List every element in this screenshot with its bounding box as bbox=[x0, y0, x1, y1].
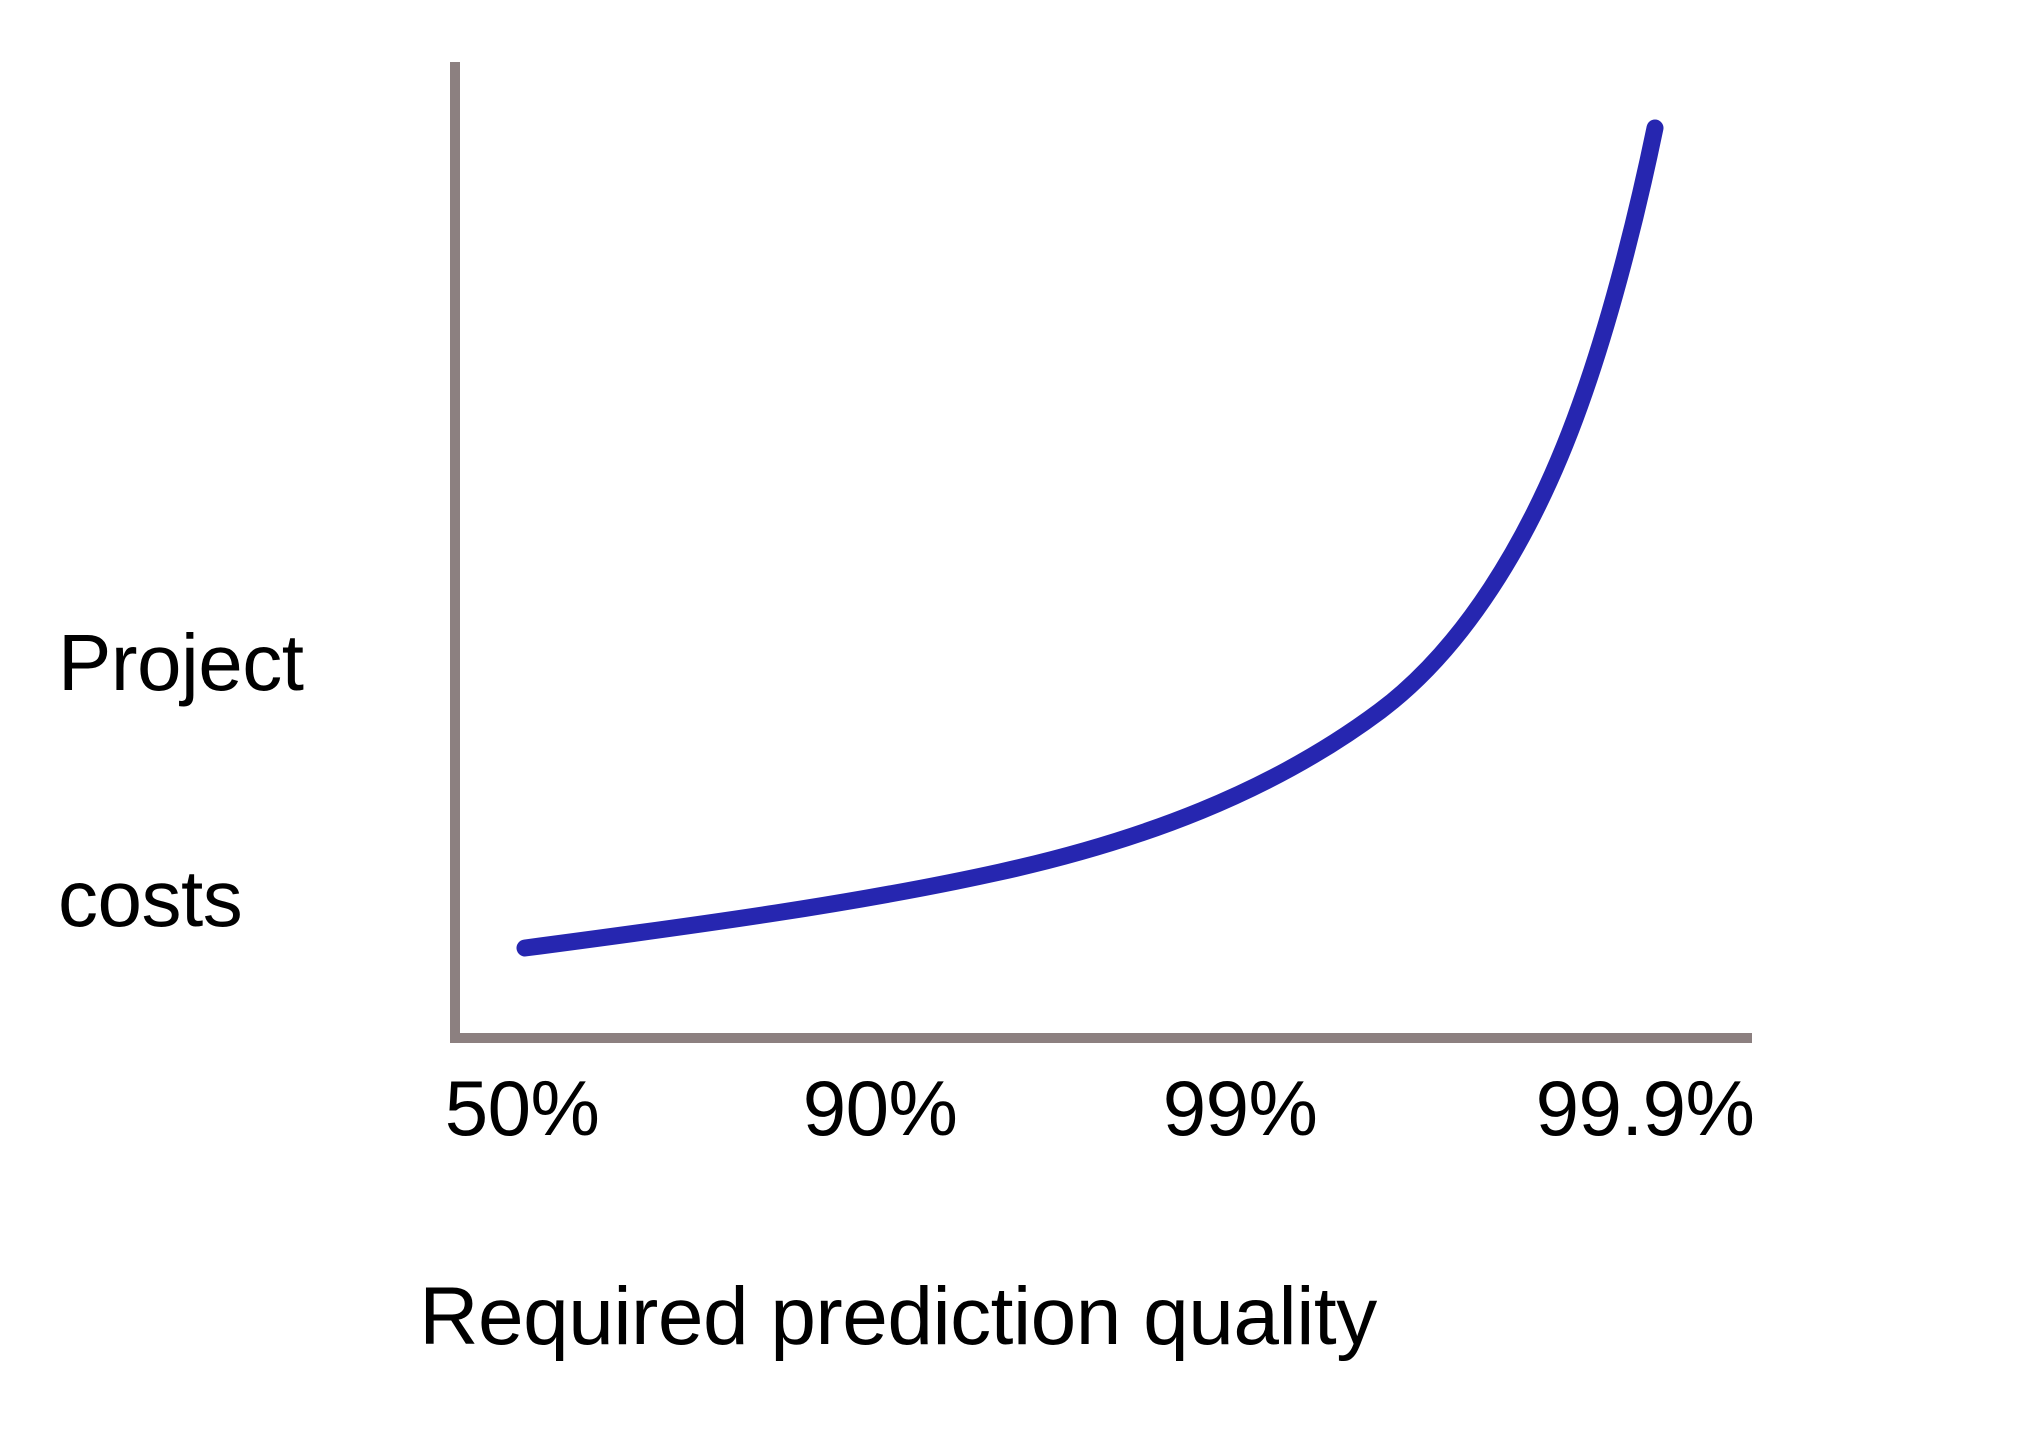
x-axis-title-text: Required prediction quality bbox=[419, 1268, 1376, 1366]
y-axis-label: Project costs bbox=[58, 486, 418, 1076]
y-axis-label-line-2: costs bbox=[58, 840, 418, 958]
x-tick-label-50: 50% bbox=[445, 1062, 600, 1154]
y-axis-label-line-1: Project bbox=[58, 604, 418, 722]
x-axis-title: Required prediction quality bbox=[0, 1268, 2036, 1366]
chart-canvas: Project costs 50% 90% 99% 99.9% Required… bbox=[0, 0, 2036, 1444]
cost-curve-line bbox=[525, 128, 1655, 948]
x-tick-label-99: 99% bbox=[1163, 1062, 1318, 1154]
x-tick-label-99-9: 99.9% bbox=[1536, 1062, 1755, 1154]
x-tick-label-90: 90% bbox=[803, 1062, 958, 1154]
